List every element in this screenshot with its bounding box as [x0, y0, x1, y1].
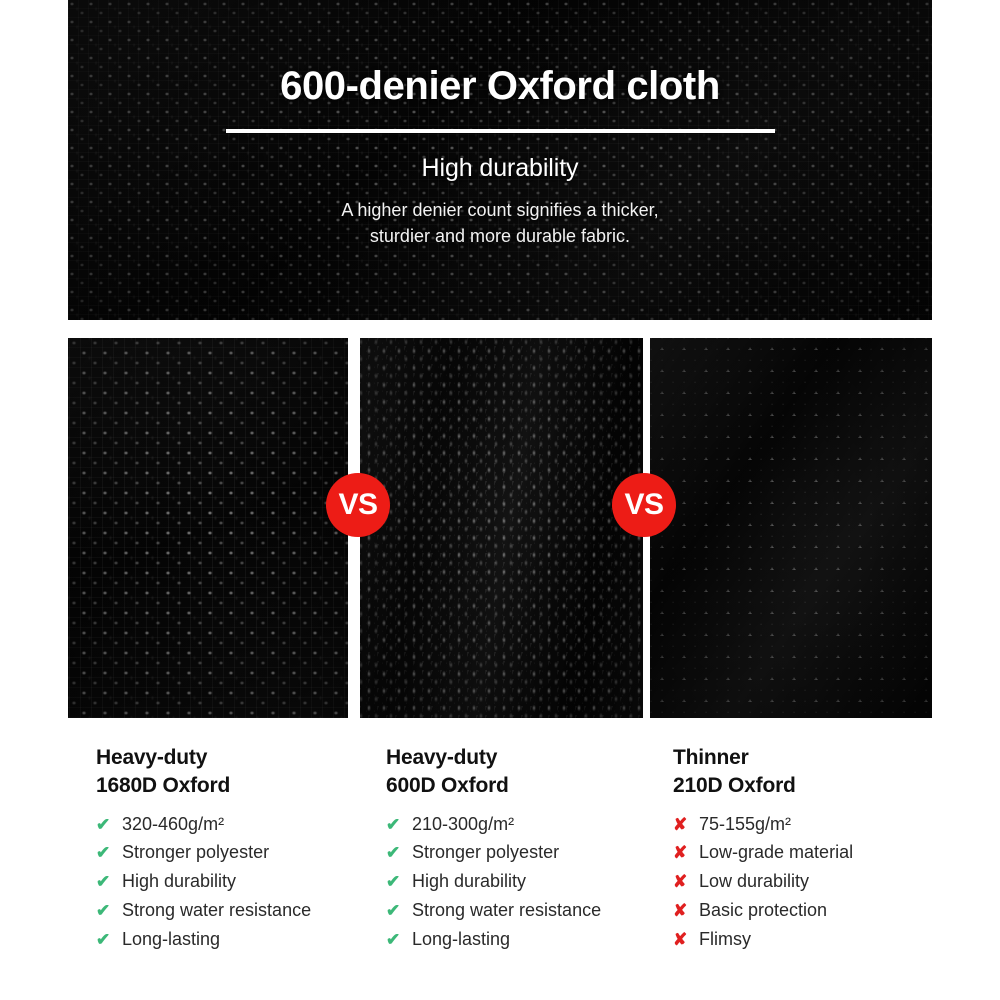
hero-title: 600-denier Oxford cloth	[280, 66, 720, 106]
feature-item: ✘ 75-155g/m²	[673, 813, 963, 837]
column-heading-line-1: Thinner	[673, 746, 749, 769]
feature-item: ✔ 320-460g/m²	[96, 813, 386, 837]
feature-item: ✔ Strong water resistance	[96, 899, 386, 923]
vs-badge-right: VS	[612, 473, 676, 537]
hero-banner: 600-denier Oxford cloth High durability …	[68, 0, 932, 320]
hero-description-line-2: sturdier and more durable fabric.	[370, 226, 630, 246]
feature-item: ✔ Strong water resistance	[386, 899, 676, 923]
column-heading-line-2: 600D Oxford	[386, 772, 676, 800]
cross-icon: ✘	[673, 900, 699, 922]
comparison-column-600d: Heavy-duty 600D Oxford ✔ 210-300g/m² ✔ S…	[386, 744, 676, 956]
cross-icon: ✘	[673, 842, 699, 864]
feature-label: Strong water resistance	[122, 899, 311, 923]
comparison-column-1680d: Heavy-duty 1680D Oxford ✔ 320-460g/m² ✔ …	[96, 744, 386, 956]
check-icon: ✔	[386, 929, 412, 951]
feature-list-1680d: ✔ 320-460g/m² ✔ Stronger polyester ✔ Hig…	[96, 813, 386, 952]
check-icon: ✔	[96, 814, 122, 836]
feature-item: ✔ Long-lasting	[386, 928, 676, 952]
feature-label: 210-300g/m²	[412, 813, 514, 837]
fabric-swatch-210d	[650, 338, 932, 718]
feature-label: Low durability	[699, 870, 809, 894]
feature-label: High durability	[122, 870, 236, 894]
check-icon: ✔	[96, 900, 122, 922]
feature-label: Long-lasting	[412, 928, 510, 952]
check-icon: ✔	[96, 871, 122, 893]
feature-item: ✘ Low-grade material	[673, 841, 963, 865]
check-icon: ✔	[386, 871, 412, 893]
hero-subtitle: High durability	[422, 154, 579, 183]
feature-label: Flimsy	[699, 928, 751, 952]
feature-item: ✔ High durability	[96, 870, 386, 894]
column-heading-line-1: Heavy-duty	[386, 746, 497, 769]
feature-label: High durability	[412, 870, 526, 894]
feature-item: ✘ Low durability	[673, 870, 963, 894]
feature-label: Stronger polyester	[412, 841, 559, 865]
cross-icon: ✘	[673, 871, 699, 893]
feature-item: ✔ Stronger polyester	[386, 841, 676, 865]
vs-badge-left: VS	[326, 473, 390, 537]
feature-list-210d: ✘ 75-155g/m² ✘ Low-grade material ✘ Low …	[673, 813, 963, 952]
column-heading-line-1: Heavy-duty	[96, 746, 207, 769]
check-icon: ✔	[96, 842, 122, 864]
feature-label: Strong water resistance	[412, 899, 601, 923]
infographic-page: 600-denier Oxford cloth High durability …	[0, 0, 1000, 1000]
check-icon: ✔	[96, 929, 122, 951]
feature-label: Long-lasting	[122, 928, 220, 952]
feature-item: ✔ High durability	[386, 870, 676, 894]
feature-label: Stronger polyester	[122, 841, 269, 865]
column-heading-600d: Heavy-duty 600D Oxford	[386, 744, 676, 801]
fabric-swatch-row	[68, 338, 932, 718]
column-heading-line-2: 1680D Oxford	[96, 772, 386, 800]
feature-item: ✘ Basic protection	[673, 899, 963, 923]
fabric-swatch-600d	[360, 338, 643, 718]
hero-content: 600-denier Oxford cloth High durability …	[68, 0, 932, 320]
feature-label: 75-155g/m²	[699, 813, 791, 837]
swatch-shading-overlay	[650, 338, 932, 718]
column-heading-1680d: Heavy-duty 1680D Oxford	[96, 744, 386, 801]
column-heading-210d: Thinner 210D Oxford	[673, 744, 963, 801]
cross-icon: ✘	[673, 929, 699, 951]
hero-description: A higher denier count signifies a thicke…	[341, 197, 658, 249]
check-icon: ✔	[386, 900, 412, 922]
feature-item: ✔ Stronger polyester	[96, 841, 386, 865]
column-heading-line-2: 210D Oxford	[673, 772, 963, 800]
comparison-column-210d: Thinner 210D Oxford ✘ 75-155g/m² ✘ Low-g…	[673, 744, 963, 956]
swatch-shading-overlay	[68, 338, 348, 718]
swatch-shading-overlay	[360, 338, 643, 718]
feature-label: Basic protection	[699, 899, 827, 923]
check-icon: ✔	[386, 814, 412, 836]
feature-item: ✔ Long-lasting	[96, 928, 386, 952]
comparison-columns: Heavy-duty 1680D Oxford ✔ 320-460g/m² ✔ …	[68, 744, 958, 974]
feature-list-600d: ✔ 210-300g/m² ✔ Stronger polyester ✔ Hig…	[386, 813, 676, 952]
hero-description-line-1: A higher denier count signifies a thicke…	[341, 200, 658, 220]
feature-item: ✘ Flimsy	[673, 928, 963, 952]
check-icon: ✔	[386, 842, 412, 864]
feature-label: 320-460g/m²	[122, 813, 224, 837]
hero-divider-rule	[226, 129, 775, 133]
fabric-swatch-1680d	[68, 338, 348, 718]
cross-icon: ✘	[673, 814, 699, 836]
feature-item: ✔ 210-300g/m²	[386, 813, 676, 837]
feature-label: Low-grade material	[699, 841, 853, 865]
